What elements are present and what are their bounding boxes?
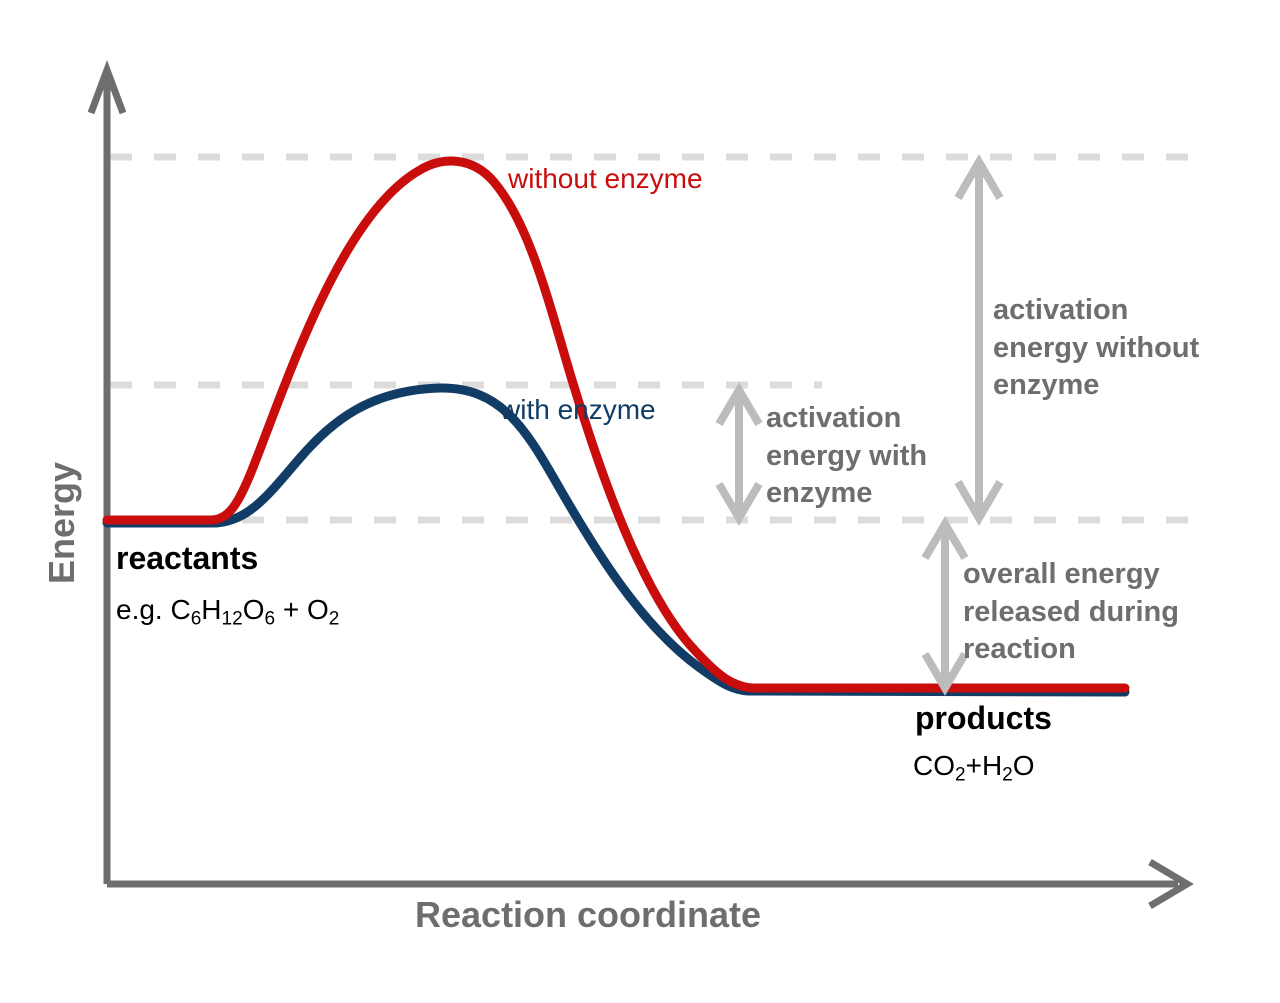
- products-title: products: [915, 702, 1052, 734]
- x-axis-label: Reaction coordinate: [415, 897, 761, 933]
- curve-label-without-enzyme: without enzyme: [508, 165, 703, 193]
- reactants-title: reactants: [116, 542, 258, 574]
- reaction-energy-plot: [0, 0, 1280, 1003]
- products-formula: CO2+H2O: [913, 752, 1035, 784]
- energy-diagram: Energy Reaction coordinate without enzym…: [0, 0, 1280, 1003]
- annotation-activation-energy-with-enzyme: activation energy with enzyme: [766, 400, 966, 513]
- annotation-activation-energy-without-enzyme: activation energy without enzyme: [993, 292, 1243, 405]
- y-axis-label: Energy: [44, 423, 80, 623]
- arrow-overall-energy-released: [925, 524, 965, 688]
- annotation-overall-energy-released: overall energy released during reaction: [963, 556, 1223, 669]
- reactants-formula: e.g. C6H12O6 + O2: [116, 596, 339, 628]
- arrow-activation-energy-with-enzyme: [719, 390, 759, 518]
- curve-label-with-enzyme: with enzyme: [500, 396, 656, 424]
